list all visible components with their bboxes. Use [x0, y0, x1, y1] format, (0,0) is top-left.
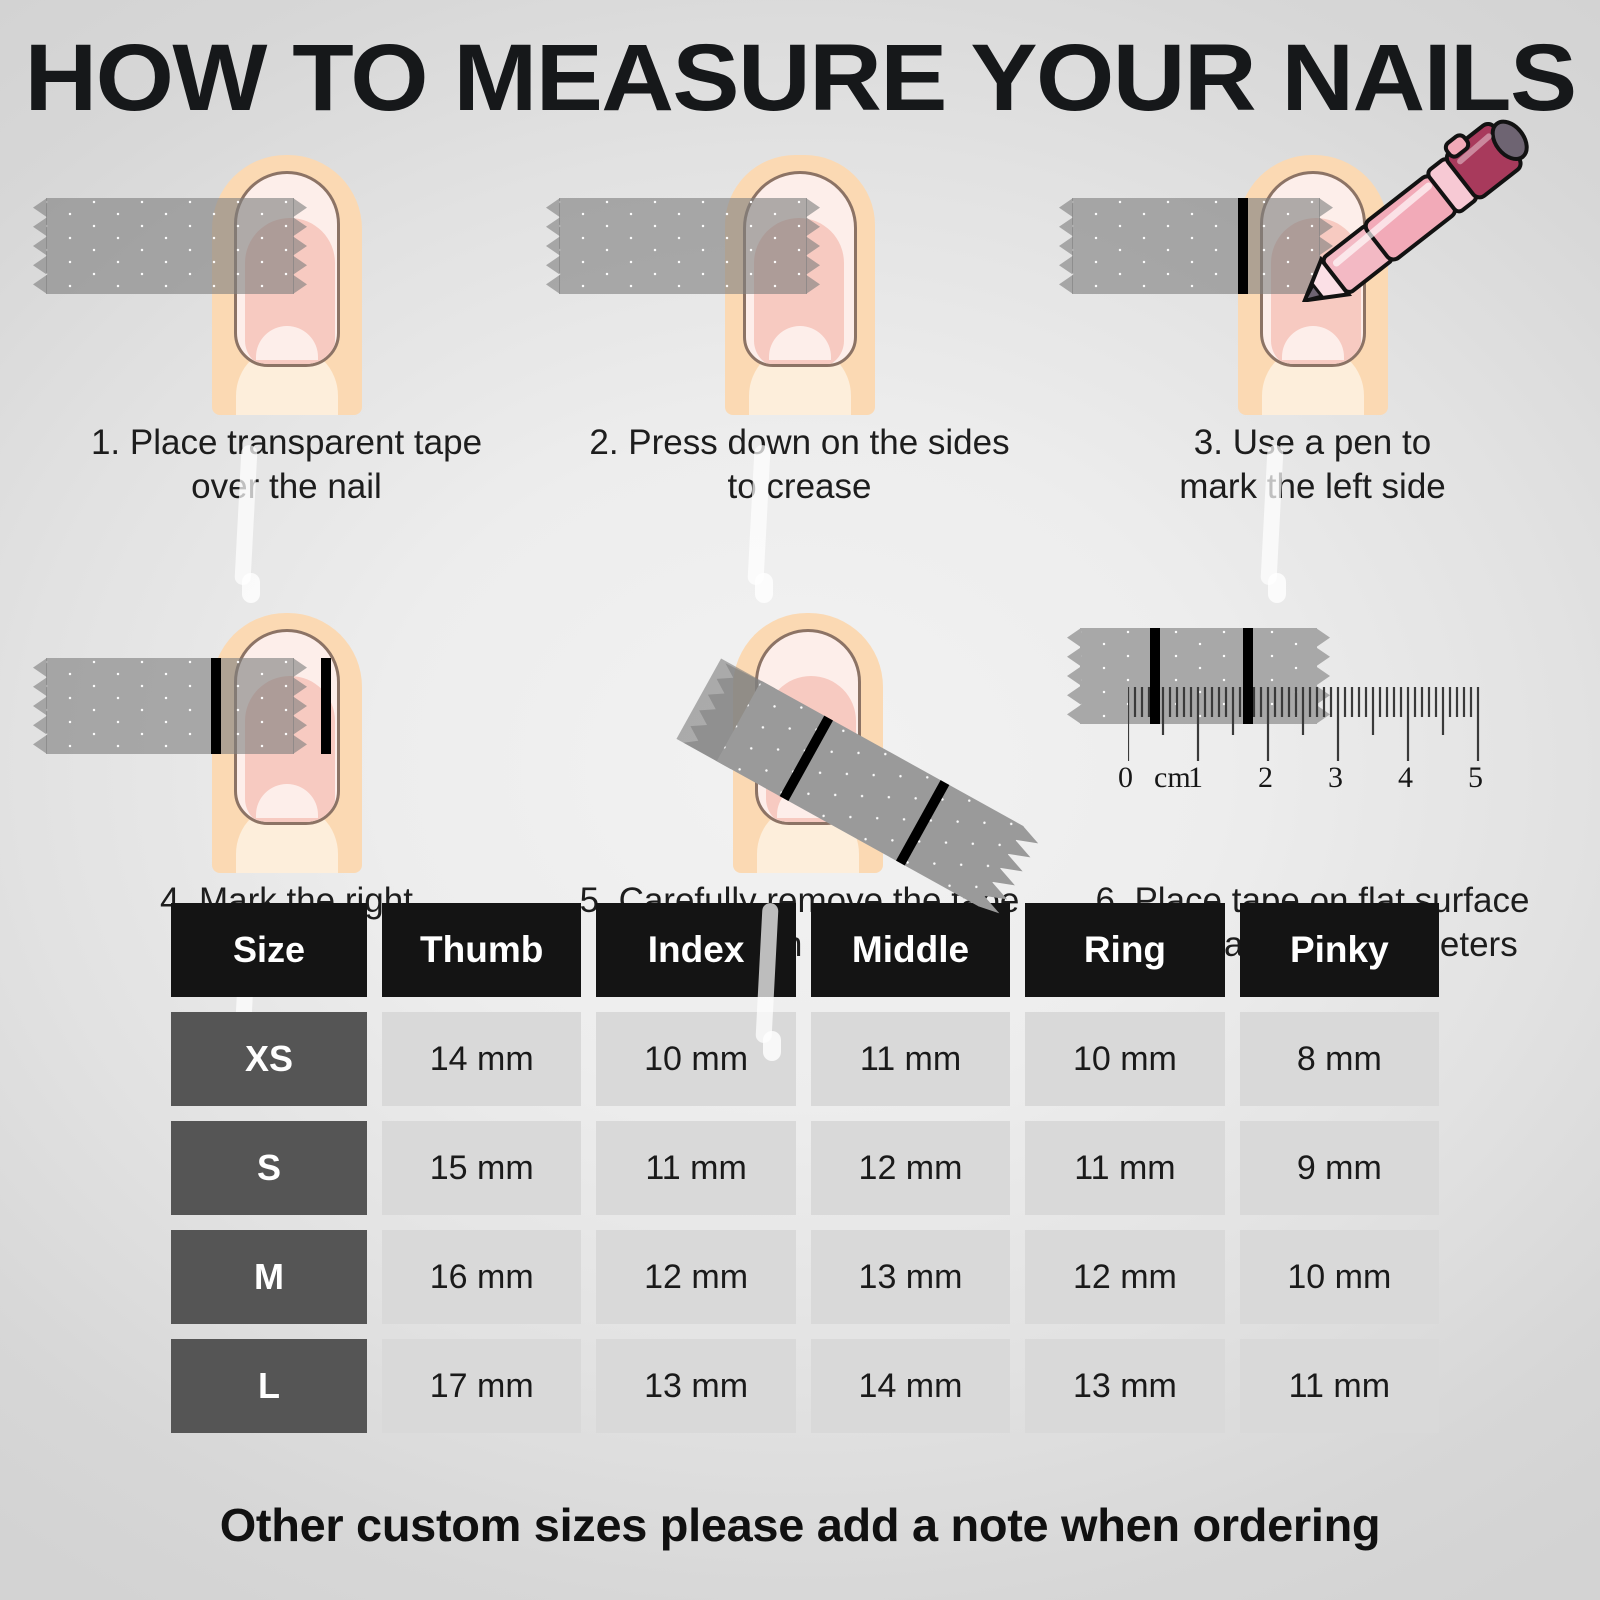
tape-dots — [46, 658, 294, 754]
tape-dots — [1072, 198, 1320, 294]
ruler-label-4: 4 — [1398, 761, 1413, 795]
ruler-label-5: 5 — [1468, 761, 1483, 795]
table-cell-index: 11 mm — [596, 1121, 795, 1215]
tape-strip — [559, 198, 807, 294]
table-header-pinky: Pinky — [1240, 903, 1439, 997]
pen-mark-left — [1150, 628, 1160, 724]
table-cell-index: 13 mm — [596, 1339, 795, 1433]
ruler-label-1: 1 — [1188, 761, 1203, 795]
table-header-size: Size — [171, 903, 367, 997]
footer-note: Other custom sizes please add a note whe… — [0, 1498, 1600, 1552]
table-header-thumb: Thumb — [382, 903, 581, 997]
table-cell-middle: 13 mm — [811, 1230, 1010, 1324]
nail-shine-small-icon — [763, 1031, 781, 1061]
table-cell-pinky: 9 mm — [1240, 1121, 1439, 1215]
table-header-row: Size Thumb Index Middle Ring Pinky — [171, 903, 1439, 997]
ruler-label-0: 0 — [1118, 761, 1133, 795]
infographic-page: HOW TO MEASURE YOUR NAILS — [0, 0, 1600, 1600]
step-3: 3. Use a pen to mark the left side — [1056, 120, 1569, 509]
table-cell-index: 12 mm — [596, 1230, 795, 1324]
table-cell-ring: 12 mm — [1025, 1230, 1224, 1324]
step-1-caption-line2: over the nail — [30, 465, 543, 509]
tape-edge-left-icon — [1067, 628, 1081, 724]
step-2: 2. Press down on the sides to crease — [543, 120, 1056, 509]
table-cell-pinky: 10 mm — [1240, 1230, 1439, 1324]
ruler-unit-label: cm — [1154, 761, 1191, 795]
tape-dots — [46, 198, 294, 294]
steps-row-1: 1. Place transparent tape over the nail — [30, 120, 1570, 509]
table-row: L 17 mm 13 mm 14 mm 13 mm 11 mm — [171, 1339, 1439, 1433]
table-cell-ring: 10 mm — [1025, 1012, 1224, 1106]
pen-mark-right — [321, 658, 331, 754]
table-cell-size: M — [171, 1230, 367, 1324]
table-cell-pinky: 11 mm — [1240, 1339, 1439, 1433]
table-row: M 16 mm 12 mm 13 mm 12 mm 10 mm — [171, 1230, 1439, 1324]
step-1-caption-line1: 1. Place transparent tape — [30, 421, 543, 465]
table-header-ring: Ring — [1025, 903, 1224, 997]
table-cell-thumb: 14 mm — [382, 1012, 581, 1106]
tape-edge-left-icon — [33, 198, 47, 294]
pen-icon — [1301, 112, 1551, 302]
table-row: XS 14 mm 10 mm 11 mm 10 mm 8 mm — [171, 1012, 1439, 1106]
table-cell-ring: 13 mm — [1025, 1339, 1224, 1433]
ruler-label-3: 3 — [1328, 761, 1343, 795]
table-cell-middle: 11 mm — [811, 1012, 1010, 1106]
pen-mark-left — [1238, 198, 1248, 294]
step-2-illustration — [543, 120, 1056, 415]
step-3-caption-line1: 3. Use a pen to — [1056, 421, 1569, 465]
steps-grid: 1. Place transparent tape over the nail — [30, 120, 1570, 967]
table-cell-middle: 12 mm — [811, 1121, 1010, 1215]
tape-dots — [559, 198, 807, 294]
step-1: 1. Place transparent tape over the nail — [30, 120, 543, 509]
table-cell-thumb: 16 mm — [382, 1230, 581, 1324]
tape-edge-left-icon — [546, 198, 560, 294]
step-3-illustration — [1056, 120, 1569, 415]
step-2-caption-line1: 2. Press down on the sides — [543, 421, 1056, 465]
step-2-caption-line2: to crease — [543, 465, 1056, 509]
tape-strip — [46, 198, 294, 294]
step-4-illustration — [30, 583, 543, 873]
table-cell-pinky: 8 mm — [1240, 1012, 1439, 1106]
table-row: S 15 mm 11 mm 12 mm 11 mm 9 mm — [171, 1121, 1439, 1215]
table-cell-thumb: 17 mm — [382, 1339, 581, 1433]
tape-strip — [46, 658, 294, 754]
table-cell-size: L — [171, 1339, 367, 1433]
step-1-caption: 1. Place transparent tape over the nail — [30, 415, 543, 509]
step-1-illustration — [30, 120, 543, 415]
tape-edge-left-icon — [1059, 198, 1073, 294]
step-3-caption: 3. Use a pen to mark the left side — [1056, 415, 1569, 509]
pen-mark-right — [1243, 628, 1253, 724]
table-cell-ring: 11 mm — [1025, 1121, 1224, 1215]
size-table: Size Thumb Index Middle Ring Pinky XS 14… — [171, 903, 1439, 1448]
tape-edge-left-icon — [33, 658, 47, 754]
step-5-illustration — [543, 583, 1056, 873]
tape-edge-right-icon — [293, 198, 307, 294]
table-cell-size: XS — [171, 1012, 367, 1106]
ruler-label-2: 2 — [1258, 761, 1273, 795]
tape-edge-right-icon — [806, 198, 820, 294]
table-cell-middle: 14 mm — [811, 1339, 1010, 1433]
tape-edge-right-icon — [293, 658, 307, 754]
step-3-caption-line2: mark the left side — [1056, 465, 1569, 509]
table-header-middle: Middle — [811, 903, 1010, 997]
step-6-illustration: 0 cm 1 2 3 4 5 — [1056, 583, 1569, 873]
step-2-caption: 2. Press down on the sides to crease — [543, 415, 1056, 509]
table-cell-thumb: 15 mm — [382, 1121, 581, 1215]
pen-mark-left — [211, 658, 221, 754]
table-cell-size: S — [171, 1121, 367, 1215]
tape-strip — [1072, 198, 1320, 294]
